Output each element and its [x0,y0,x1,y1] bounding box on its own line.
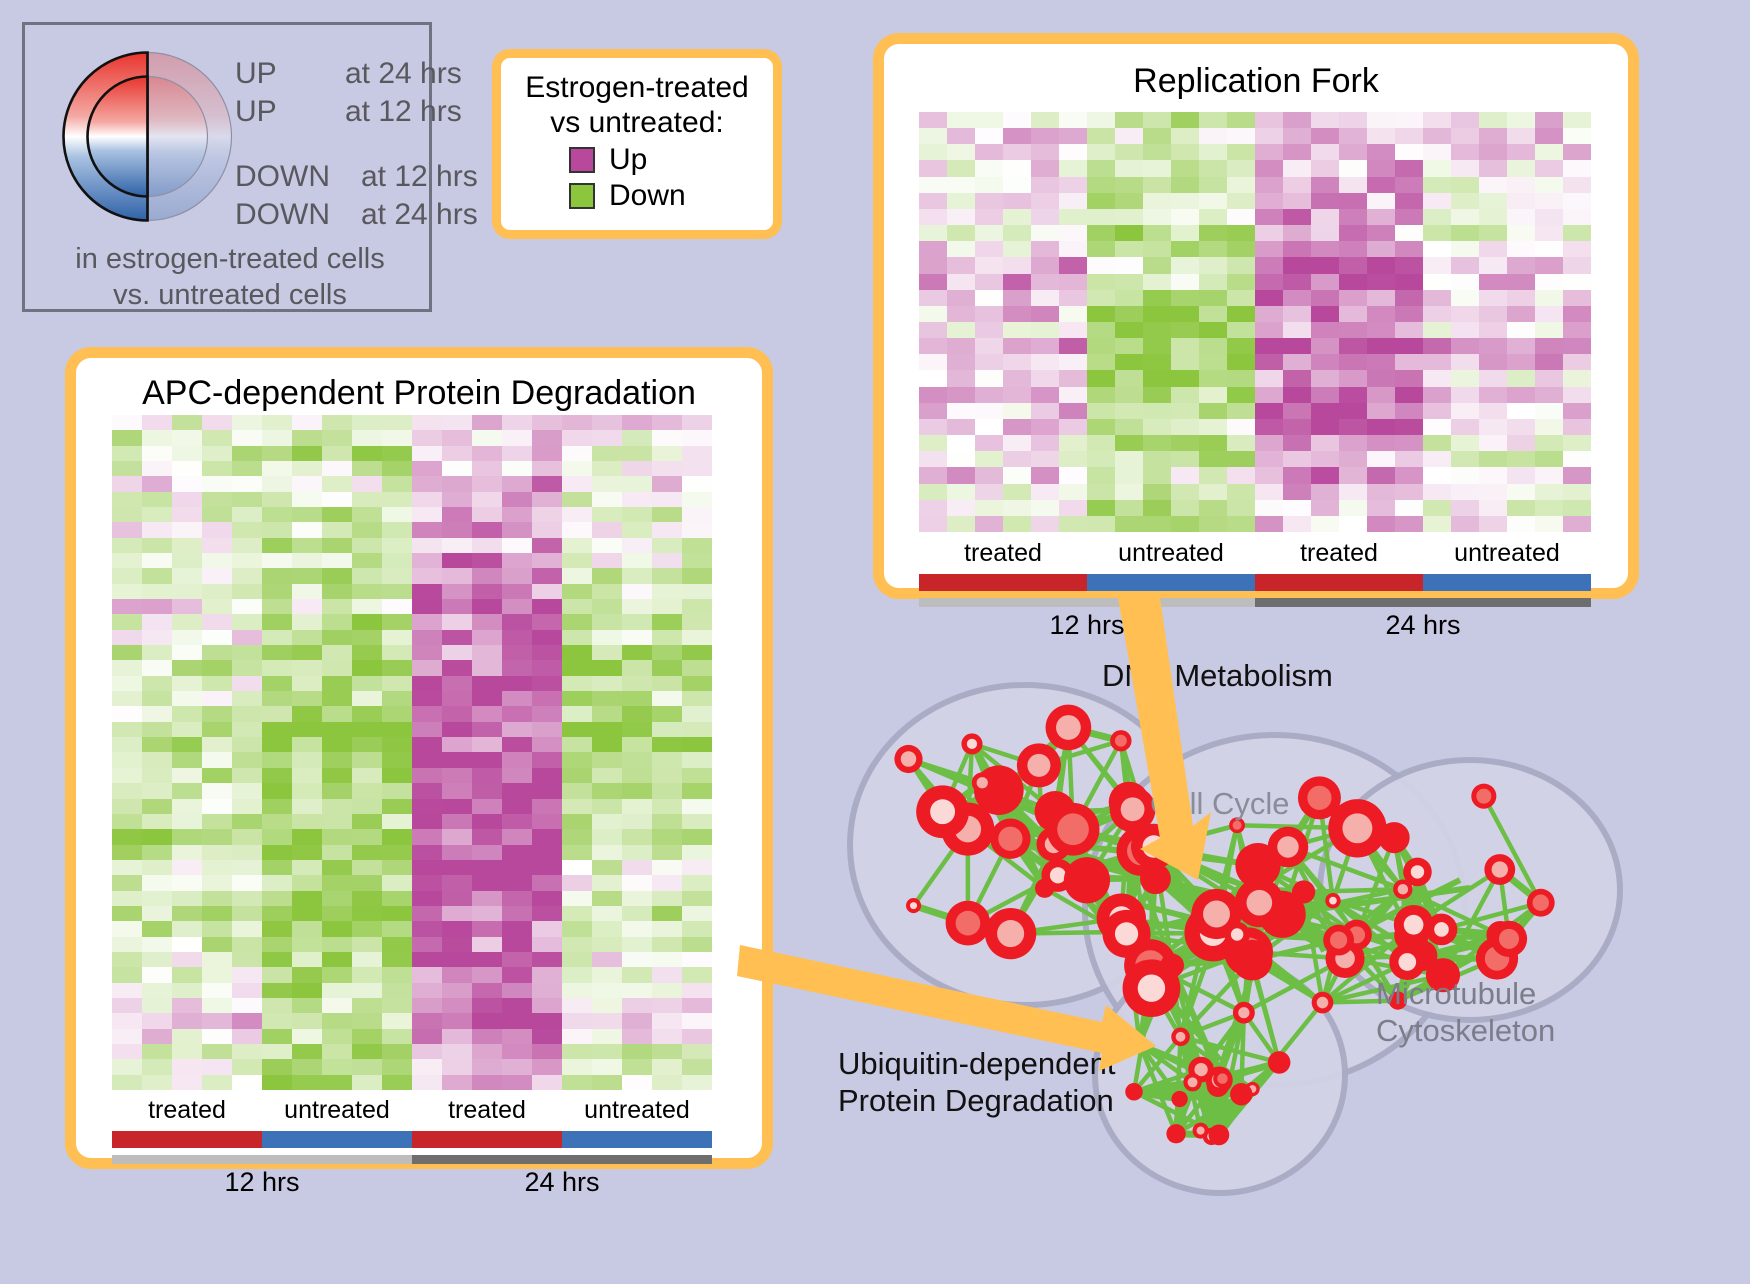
heat-cell [322,998,352,1013]
heat-cell [1227,403,1255,419]
heat-cell [1255,419,1283,435]
heat-cell [622,568,652,583]
heat-cell [232,676,262,691]
panel-replication-fork: Replication Fork treateduntreatedtreated… [873,33,1639,599]
heat-cell [1339,370,1367,386]
heat-cell [172,446,202,461]
heat-cell [562,1029,592,1044]
heat-cell [1003,209,1031,225]
heat-cell [622,998,652,1013]
heat-cell [947,274,975,290]
heat-cell [1115,225,1143,241]
heat-cell [562,768,592,783]
network-node [1064,857,1110,903]
heat-cell [232,814,262,829]
heat-cell [622,630,652,645]
heat-cell [322,722,352,737]
heat-cell [292,737,322,752]
heat-cell [919,128,947,144]
heat-cell [442,599,472,614]
heat-cell [622,860,652,875]
heat-cell [232,845,262,860]
legend-up-24-label: UP [235,57,277,91]
heat-cell [1367,177,1395,193]
heat-cell [202,492,232,507]
heat-cell [1003,370,1031,386]
heat-cell [172,952,202,967]
heat-cell [1227,338,1255,354]
network-node-core [967,739,977,749]
network-node-core [1404,915,1424,935]
heat-cell [1451,435,1479,451]
network-node-core [1231,928,1243,940]
heat-cell [412,476,442,491]
heat-cell [502,722,532,737]
heat-cell [1283,128,1311,144]
network-node [1230,1083,1252,1105]
heat-cell [172,584,202,599]
heat-cell [1199,144,1227,160]
heat-cell [262,906,292,921]
heat-cell [1479,370,1507,386]
heat-cell [352,645,382,660]
heat-cell [502,568,532,583]
heat-cell [1283,419,1311,435]
heat-cell [652,461,682,476]
network-node-core [1197,1127,1205,1135]
heat-cell [1003,500,1031,516]
heat-cell [172,691,202,706]
heat-cell [1451,241,1479,257]
heat-cell [1115,484,1143,500]
heat-cell [1311,387,1339,403]
heat-cell [262,875,292,890]
heat-cell [232,660,262,675]
heat-cell [292,814,322,829]
heat-cell [322,492,352,507]
heat-cell [1479,484,1507,500]
heat-cell [1339,257,1367,273]
heat-cell [322,937,352,952]
heat-cell [1283,484,1311,500]
heat-cell [442,752,472,767]
heat-cell [532,768,562,783]
legend-down-12-label: DOWN [235,160,330,194]
heat-cell [442,737,472,752]
heat-cell [1507,257,1535,273]
heat-cell [382,921,412,936]
heat-cell [1255,225,1283,241]
heat-cell [202,783,232,798]
heat-cell [322,522,352,537]
heat-cell [562,430,592,445]
heat-cell [682,722,712,737]
heat-cell [292,706,322,721]
heat-cell [1143,467,1171,483]
heat-cell [502,998,532,1013]
heat-cell [232,1029,262,1044]
heat-cell [682,430,712,445]
heat-cell [532,660,562,675]
heat-cell [292,906,322,921]
heat-cell [652,614,682,629]
heat-cell [1563,144,1591,160]
heat-cell [322,1013,352,1028]
heat-cell [442,829,472,844]
heat-cell [1227,387,1255,403]
network-node-core [1492,861,1508,877]
heat-cell [1367,257,1395,273]
heat-cell [1423,403,1451,419]
heat-cell [622,952,652,967]
heat-cell [622,783,652,798]
heat-cell [292,983,322,998]
heat-cell [352,937,382,952]
heat-cell [322,446,352,461]
heat-cell [1059,128,1087,144]
heat-cell [682,1029,712,1044]
time-bar-segment-0 [112,1155,412,1164]
heat-cell [562,553,592,568]
heat-cell [262,860,292,875]
heat-cell [1339,160,1367,176]
heat-cell [1395,177,1423,193]
heat-cell [1507,225,1535,241]
heat-cell [919,451,947,467]
heat-cell [1059,193,1087,209]
heat-cell [947,435,975,451]
heat-cell [292,676,322,691]
heat-cell [1339,484,1367,500]
heat-cell [412,1013,442,1028]
heat-cell [442,967,472,982]
heat-cell [382,967,412,982]
heat-cell [622,845,652,860]
heat-cell [412,875,442,890]
heat-cell [919,112,947,128]
heat-cell [142,660,172,675]
heat-cell [412,752,442,767]
heat-cell [975,112,1003,128]
heat-cell [1115,290,1143,306]
heat-cell [112,568,142,583]
heat-cell [142,645,172,660]
heat-cell [1535,419,1563,435]
heat-cell [202,415,232,430]
heat-cell [322,415,352,430]
heat-cell [1031,225,1059,241]
heat-cell [1311,370,1339,386]
heat-cell [232,446,262,461]
heat-cell [1311,225,1339,241]
heat-cell [442,630,472,645]
heat-cell [1003,177,1031,193]
heat-cell [947,144,975,160]
heat-cell [1339,193,1367,209]
heat-cell [622,476,652,491]
heat-cell [1507,177,1535,193]
heat-cell [1563,322,1591,338]
heat-cell [442,860,472,875]
heat-cell [142,614,172,629]
heat-cell [1423,484,1451,500]
heat-cell [562,952,592,967]
heat-cell [142,1059,172,1074]
heat-cell [1395,516,1423,532]
heat-cell [682,645,712,660]
heat-cell [947,467,975,483]
heat-cell [1171,387,1199,403]
heat-cell [1115,177,1143,193]
heat-cell [652,599,682,614]
heat-cell [172,1044,202,1059]
heat-cell [622,430,652,445]
heat-cell [592,492,622,507]
heat-cell [202,1075,232,1090]
heat-cell [975,257,1003,273]
heat-cell [1507,274,1535,290]
heat-cell [1115,144,1143,160]
heat-cell [1563,403,1591,419]
heat-cell [352,507,382,522]
heat-cell [1479,435,1507,451]
heat-cell [1227,225,1255,241]
heat-cell [1031,484,1059,500]
heat-cell [382,553,412,568]
heat-cell [112,599,142,614]
heat-cell [622,492,652,507]
heat-cell [1423,435,1451,451]
heat-cell [1087,419,1115,435]
heat-cell [442,568,472,583]
heat-cell [682,614,712,629]
heat-cell [262,967,292,982]
heat-cell [172,783,202,798]
heat-cell [1339,387,1367,403]
heat-cell [382,660,412,675]
heat-cell [1507,516,1535,532]
heat-cell [1507,403,1535,419]
heat-cell [562,660,592,675]
heat-cell [682,492,712,507]
heat-cell [532,1059,562,1074]
heat-cell [472,706,502,721]
heat-cell [382,814,412,829]
heat-cell [442,875,472,890]
heat-cell [232,891,262,906]
heat-cell [532,737,562,752]
heat-cell [947,387,975,403]
heat-cell [1059,370,1087,386]
heat-cell [1451,370,1479,386]
microtubule-line-2: Cytoskeleton [1376,1012,1555,1049]
heat-cell [262,722,292,737]
heat-cell [975,516,1003,532]
heat-cell [202,937,232,952]
network-graph [820,630,1750,1279]
heat-cell [919,387,947,403]
heat-cell [292,492,322,507]
heat-cell [682,584,712,599]
heat-cell [682,952,712,967]
heat-cell [1087,160,1115,176]
treatment-bar-segment-1 [262,1131,412,1148]
heat-cell [502,921,532,936]
heat-cell [919,177,947,193]
heat-cell [1311,290,1339,306]
heat-cell [1563,354,1591,370]
heat-cell [382,492,412,507]
heat-cell [142,630,172,645]
treatment-bar-segment-1 [1087,574,1255,591]
heat-cell [919,160,947,176]
heat-cell [1283,257,1311,273]
heat-cell [142,553,172,568]
heat-cell [1143,128,1171,144]
heat-cell [232,630,262,645]
heat-cell [1451,387,1479,403]
heat-cell [262,1029,292,1044]
heat-cell [1003,338,1031,354]
heat-cell [947,160,975,176]
heat-cell [472,645,502,660]
heat-cell [502,430,532,445]
heat-cell [1283,225,1311,241]
heat-cell [1143,338,1171,354]
heat-cell [1479,419,1507,435]
heat-cell [652,967,682,982]
heat-cell [592,476,622,491]
heat-cell [1507,322,1535,338]
heat-cell [352,691,382,706]
heat-cell [352,584,382,599]
heat-cell [1031,274,1059,290]
heat-cell [232,599,262,614]
heat-cell [1283,435,1311,451]
heat-cell [947,209,975,225]
heat-cell [1423,160,1451,176]
heat-cell [352,538,382,553]
heat-cell [1003,484,1031,500]
heat-cell [592,446,622,461]
heat-cell [1311,112,1339,128]
heat-cell [1143,241,1171,257]
heat-cell [592,829,622,844]
heat-cell [352,829,382,844]
heat-cell [532,584,562,599]
heat-cell [172,752,202,767]
heat-cell [682,983,712,998]
heat-cell [1451,128,1479,144]
heat-cell [292,599,322,614]
heat-cell [975,193,1003,209]
heat-cell [352,446,382,461]
heat-cell [652,584,682,599]
heat-cell [1451,274,1479,290]
replication-time-bar [919,598,1591,607]
heat-cell [562,875,592,890]
heat-cell [1311,516,1339,532]
heat-cell [502,1075,532,1090]
heat-cell [202,1044,232,1059]
heat-cell [112,538,142,553]
heat-cell [1171,516,1199,532]
heat-cell [532,476,562,491]
heat-cell [1115,257,1143,273]
heat-cell [1451,338,1479,354]
heat-cell [1171,193,1199,209]
heat-cell [472,921,502,936]
heat-cell [532,415,562,430]
heat-cell [1059,209,1087,225]
heat-cell [262,783,292,798]
heat-cell [562,967,592,982]
heat-cell [112,829,142,844]
heat-cell [352,660,382,675]
heat-cell [1367,370,1395,386]
heat-cell [975,403,1003,419]
heat-cell [202,614,232,629]
heat-cell [142,829,172,844]
heat-cell [472,799,502,814]
heat-cell [1535,467,1563,483]
heat-cell [1171,306,1199,322]
cluster-label-ubiquitin: Ubiquitin-dependent Protein Degradation [838,1045,1116,1119]
heat-cell [1227,112,1255,128]
heat-cell [975,225,1003,241]
heat-cell [1171,225,1199,241]
heat-cell [1171,160,1199,176]
heat-cell [1087,484,1115,500]
heat-cell [1479,144,1507,160]
heat-cell [1479,128,1507,144]
heat-cell [919,241,947,257]
network-node-core [910,902,917,909]
heat-cell [532,752,562,767]
heat-cell [382,829,412,844]
legend-down-label: Down [609,179,705,213]
heat-cell [352,1029,382,1044]
heat-cell [1283,112,1311,128]
heat-cell [1283,403,1311,419]
heat-cell [412,891,442,906]
heat-cell [292,783,322,798]
heat-cell [532,430,562,445]
heat-cell [1479,500,1507,516]
heat-cell [292,829,322,844]
treatment-bar-segment-2 [412,1131,562,1148]
heat-cell [442,1059,472,1074]
heat-cell [202,706,232,721]
heat-cell [472,814,502,829]
heat-cell [292,845,322,860]
panel-apc-degradation: APC-dependent Protein Degradation treate… [65,347,773,1169]
heat-cell [622,538,652,553]
heat-cell [975,419,1003,435]
heat-cell [202,752,232,767]
heat-cell [142,875,172,890]
heat-cell [112,921,142,936]
heat-cell [1311,419,1339,435]
heat-cell [1255,354,1283,370]
heat-cell [412,415,442,430]
heat-cell [232,568,262,583]
heat-cell [352,476,382,491]
heat-cell [652,722,682,737]
heat-cell [232,461,262,476]
heat-cell [472,660,502,675]
heat-cell [1535,322,1563,338]
